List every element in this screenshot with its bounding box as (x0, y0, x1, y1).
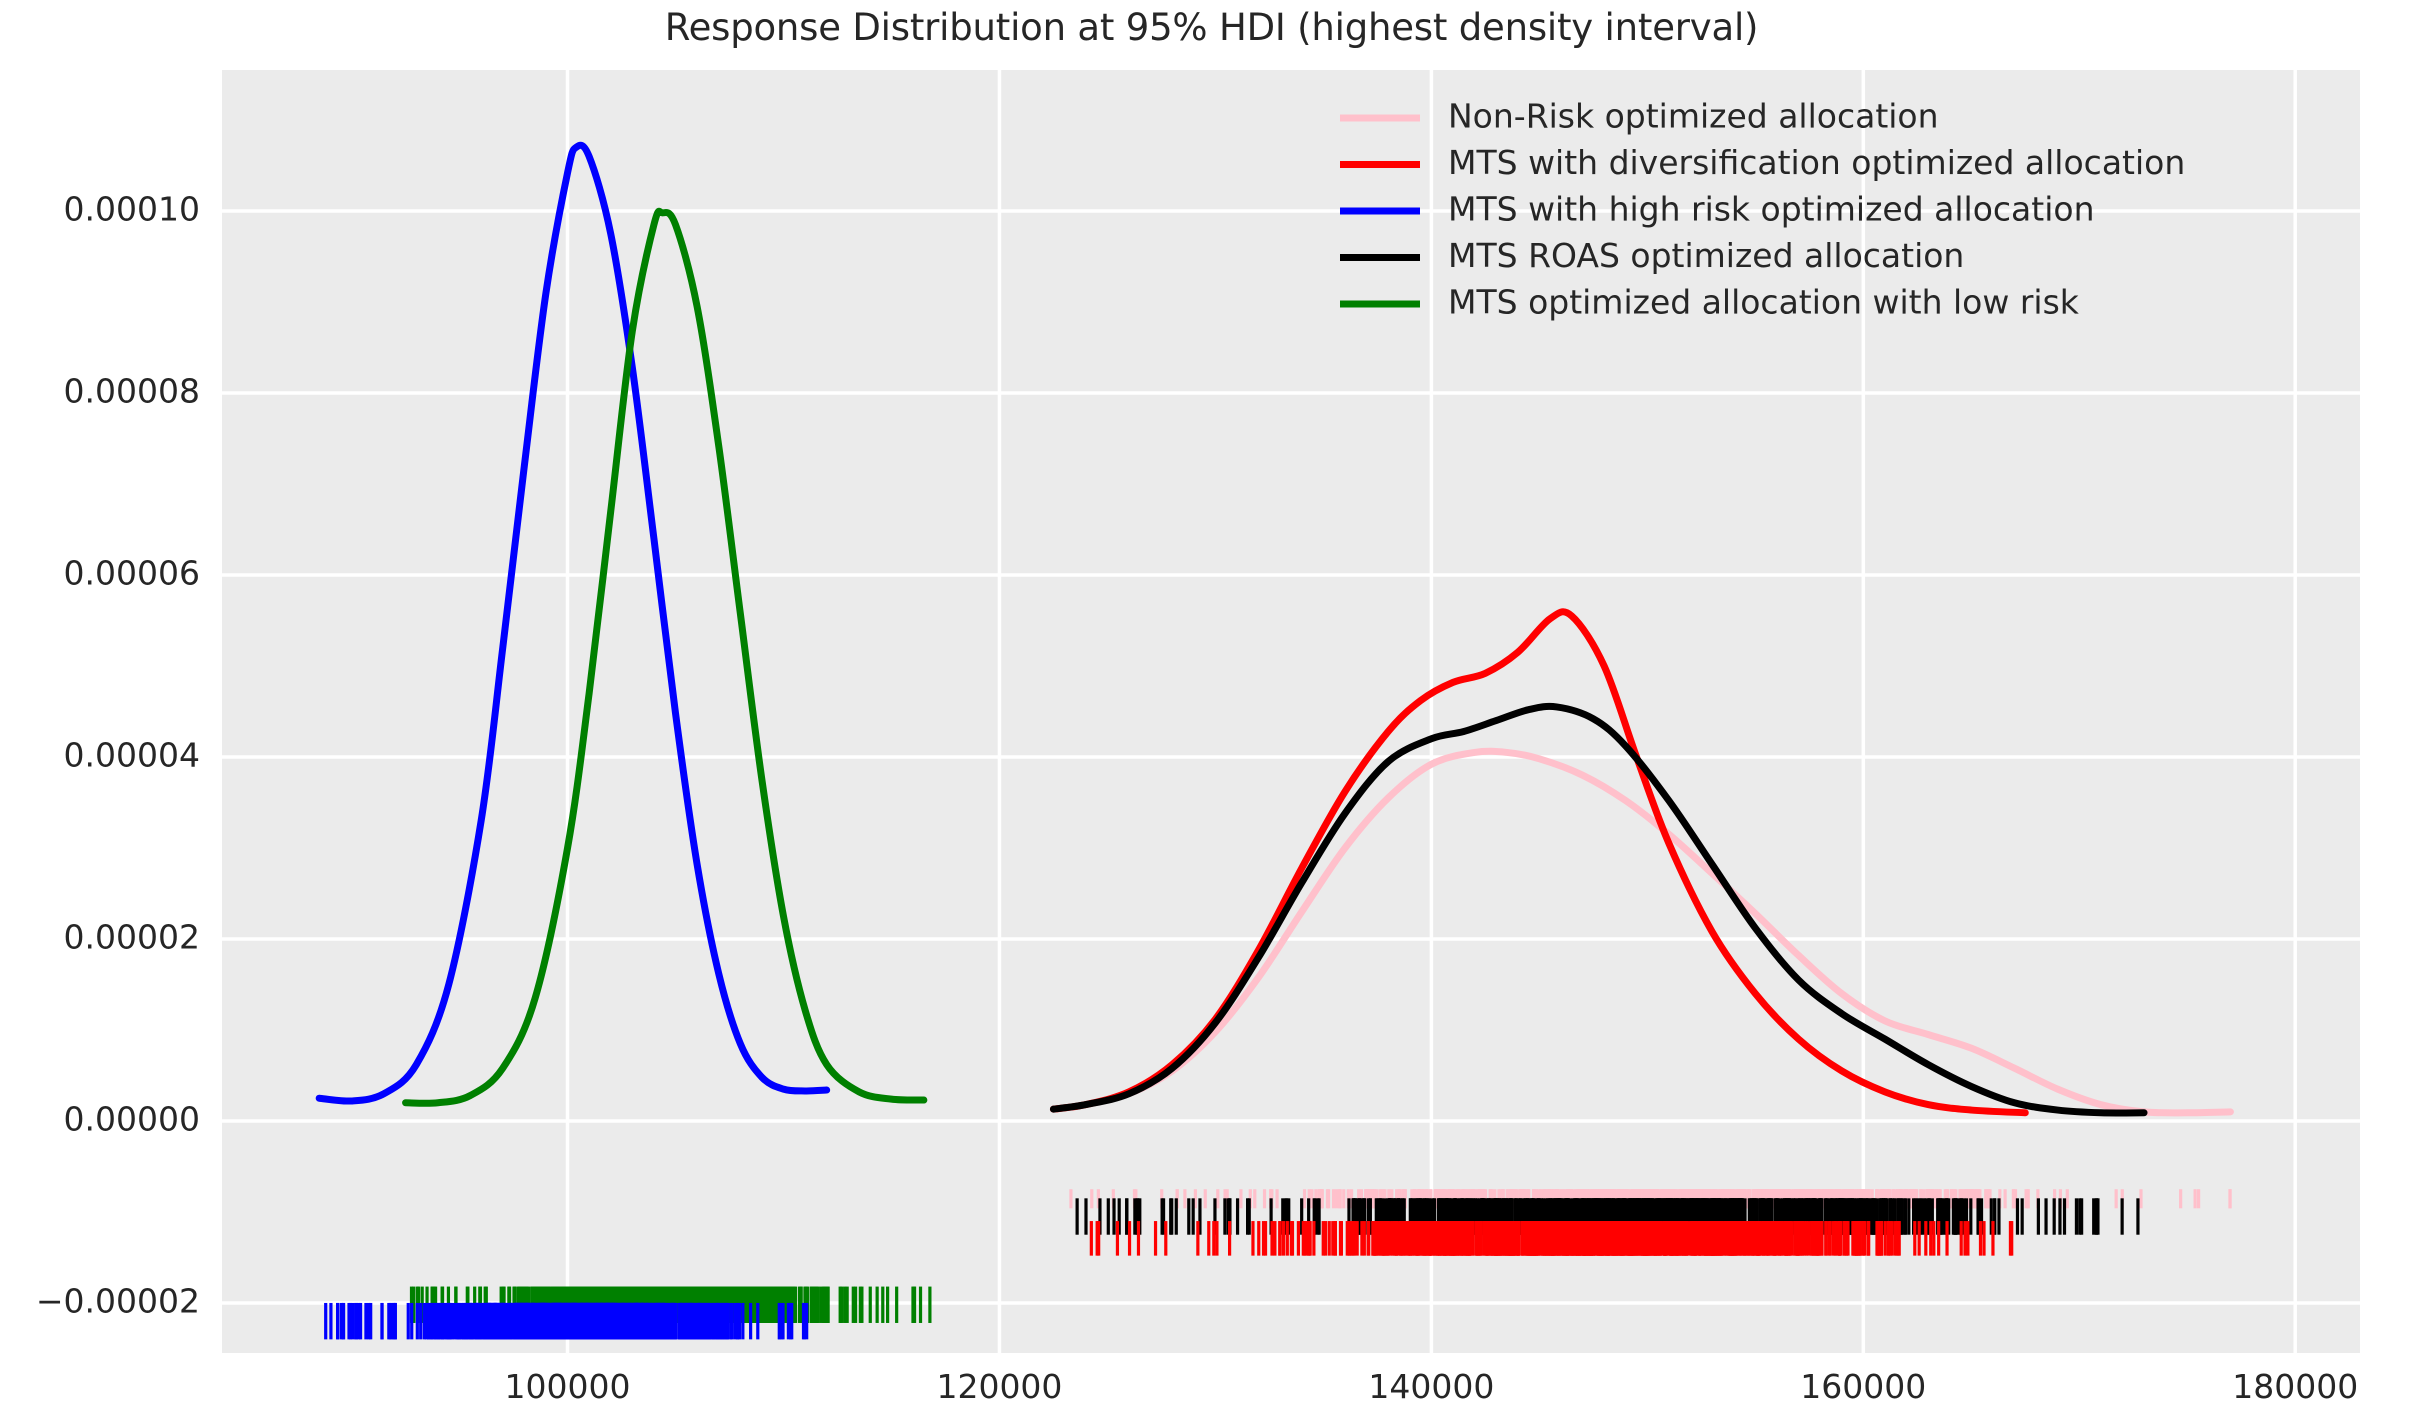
figure-canvas: Response Distribution at 95% HDI (highes… (0, 0, 2423, 1423)
kde-plot: 0.000100.000080.000060.000040.000020.000… (0, 0, 2423, 1423)
x-axis-tick-labels: 100000120000140000160000180000 (505, 1367, 2359, 1406)
x-tick-label: 180000 (2232, 1367, 2358, 1406)
x-tick-label: 160000 (1800, 1367, 1926, 1406)
y-tick-label: 0.00000 (64, 1099, 200, 1138)
legend-label-1[interactable]: MTS with diversification optimized alloc… (1448, 143, 2185, 182)
legend-label-2[interactable]: MTS with high risk optimized allocation (1448, 190, 2094, 229)
x-tick-label: 140000 (1368, 1367, 1494, 1406)
plot-background (222, 70, 2360, 1353)
legend-label-3[interactable]: MTS ROAS optimized allocation (1448, 236, 1964, 275)
y-tick-label: 0.00002 (64, 917, 200, 956)
y-tick-label: 0.00008 (64, 372, 200, 411)
y-tick-label: 0.00010 (64, 190, 200, 229)
y-tick-label: −0.00002 (36, 1281, 200, 1320)
legend-label-4[interactable]: MTS optimized allocation with low risk (1448, 283, 2080, 322)
y-axis-tick-labels: 0.000100.000080.000060.000040.000020.000… (36, 190, 200, 1321)
y-tick-label: 0.00006 (64, 554, 200, 593)
y-tick-label: 0.00004 (64, 735, 200, 774)
x-tick-label: 120000 (936, 1367, 1062, 1406)
legend-label-0[interactable]: Non-Risk optimized allocation (1448, 97, 1939, 136)
x-tick-label: 100000 (505, 1367, 631, 1406)
